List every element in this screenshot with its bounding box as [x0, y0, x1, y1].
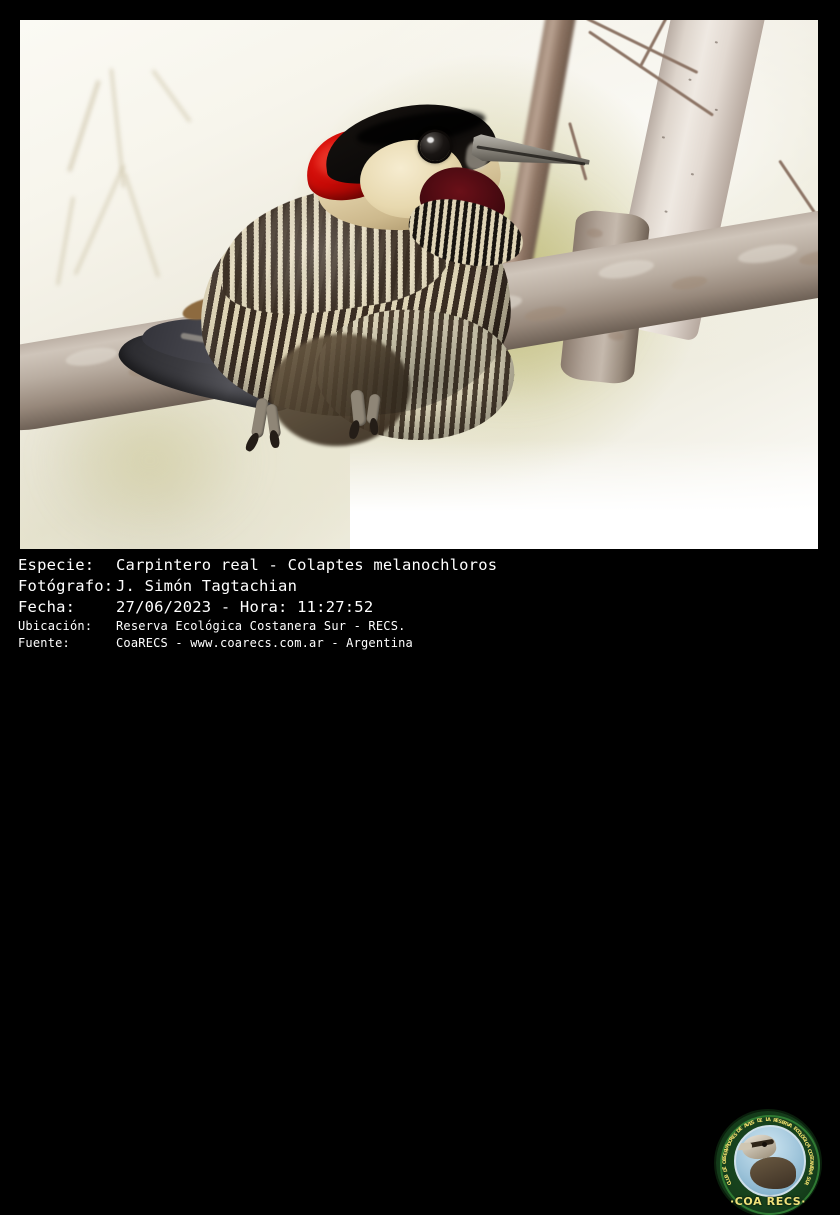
bird-eye — [420, 132, 450, 161]
caption-row-ubicacion: Ubicación: Reserva Ecológica Costanera S… — [18, 618, 497, 635]
caption-value-fotografo: J. Simón Tagtachian — [116, 576, 297, 597]
bird-photograph — [20, 20, 818, 549]
logo-name-text: ·COA RECS· — [716, 1195, 820, 1208]
logo-ring-char: E — [759, 1117, 763, 1123]
bird-eye-glint — [427, 137, 434, 143]
caption-label-ubicacion: Ubicación: — [18, 618, 116, 635]
caption-label-fotografo: Fotógrafo: — [18, 576, 116, 597]
coa-recs-logo[interactable]: CLUBDEOBSERVADORESDEAVESDELARESERVAECOLÓ… — [716, 1111, 820, 1215]
caption-value-especie: Carpintero real - Colaptes melanochloros — [116, 555, 497, 576]
logo-ring-char: A — [806, 1170, 813, 1175]
caption-rows: Especie: Carpintero real - Colaptes mela… — [18, 555, 497, 652]
woodpecker — [120, 98, 540, 458]
caption-row-fuente: Fuente: CoaRECS - www.coarecs.com.ar - A… — [18, 635, 497, 652]
logo-emblem — [734, 1125, 806, 1197]
caption-panel: Especie: Carpintero real - Colaptes mela… — [0, 549, 840, 668]
caption-label-fuente: Fuente: — [18, 635, 116, 652]
caption-label-especie: Especie: — [18, 555, 116, 576]
logo-ring-char: E — [722, 1166, 728, 1170]
caption-value-fecha: 27/06/2023 - Hora: 11:27:52 — [116, 597, 373, 618]
caption-label-fecha: Fecha: — [18, 597, 116, 618]
caption-row-fotografo: Fotógrafo: J. Simón Tagtachian — [18, 576, 497, 597]
logo-ring-char: S — [751, 1119, 756, 1126]
caption-value-ubicacion: Reserva Ecológica Costanera Sur - RECS. — [116, 618, 406, 635]
caption-row-especie: Especie: Carpintero real - Colaptes mela… — [18, 555, 497, 576]
caption-value-fuente: CoaRECS - www.coarecs.com.ar - Argentina — [116, 635, 413, 652]
photo-card: Especie: Carpintero real - Colaptes mela… — [0, 0, 840, 668]
logo-ring-char: A — [767, 1117, 771, 1123]
caption-row-fecha: Fecha: 27/06/2023 - Hora: 11:27:52 — [18, 597, 497, 618]
